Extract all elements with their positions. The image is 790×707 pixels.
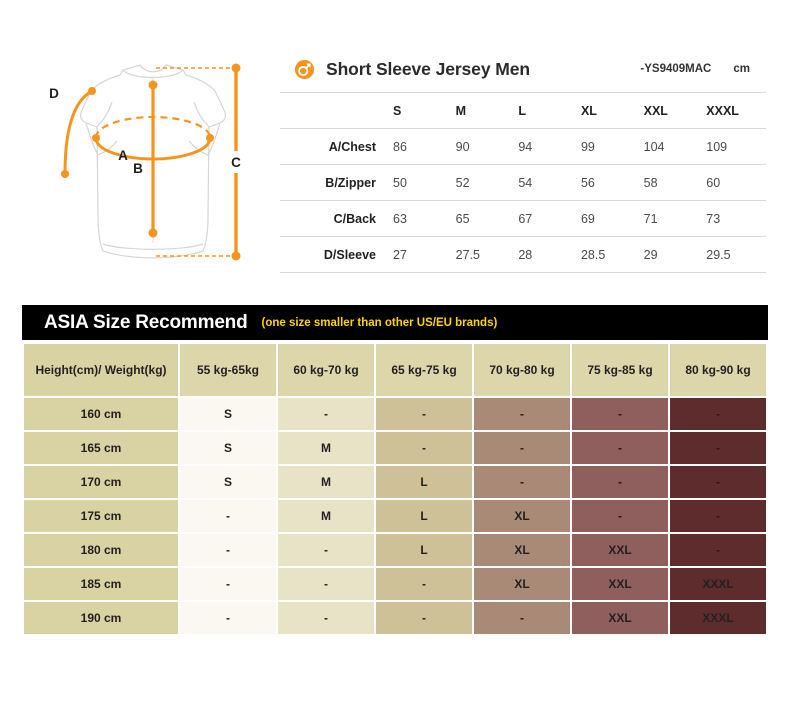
measurement-label: C/Back xyxy=(280,201,390,237)
measurement-label: D/Sleeve xyxy=(280,237,390,273)
dash-marker: - xyxy=(716,407,720,421)
asia-cell-empty: - xyxy=(376,568,472,600)
asia-cell-size: M xyxy=(278,500,374,532)
dash-marker: - xyxy=(716,543,720,557)
label-d: D xyxy=(49,86,59,101)
size-header-xxxl: XXXL xyxy=(703,93,766,129)
asia-cell-empty: - xyxy=(376,602,472,634)
asia-banner-note: (one size smaller than other US/EU brand… xyxy=(262,317,498,329)
asia-cell-empty: - xyxy=(180,534,276,566)
asia-row: 170 cmSML--- xyxy=(24,466,766,498)
measurement-value: 52 xyxy=(453,165,516,201)
asia-cell-size: XXXL xyxy=(670,568,766,600)
measurement-value: 94 xyxy=(515,129,578,165)
asia-weight-header-1: 60 kg-70 kg xyxy=(278,344,374,396)
dash-marker: - xyxy=(324,543,328,557)
asia-row: 165 cmSM---- xyxy=(24,432,766,464)
measurement-value: 109 xyxy=(703,129,766,165)
asia-cell-size: XXL xyxy=(572,602,668,634)
asia-cell-empty: - xyxy=(670,534,766,566)
product-code: -YS9409MAC xyxy=(640,63,711,75)
dash-marker: - xyxy=(422,611,426,625)
asia-weight-header-3: 70 kg-80 kg xyxy=(474,344,570,396)
asia-cell-empty: - xyxy=(474,602,570,634)
asia-cell-size: L xyxy=(376,534,472,566)
label-b: B xyxy=(133,161,143,176)
measurement-value: 28 xyxy=(515,237,578,273)
measurement-value: 90 xyxy=(453,129,516,165)
asia-size-recommend-section: ASIA Size Recommend (one size smaller th… xyxy=(22,305,768,636)
table-row: C/Back 63 65 67 69 71 73 xyxy=(280,201,766,237)
asia-cell-empty: - xyxy=(180,568,276,600)
measurement-value: 86 xyxy=(390,129,453,165)
page-title: Short Sleeve Jersey Men xyxy=(326,59,530,80)
measure-d-sleeve xyxy=(65,91,92,174)
product-spec-section: C B A xyxy=(0,0,790,290)
asia-cell-empty: - xyxy=(572,432,668,464)
asia-row: 185 cm---XLXXLXXXL xyxy=(24,568,766,600)
dash-marker: - xyxy=(520,441,524,455)
asia-cell-size: XXL xyxy=(572,568,668,600)
dash-marker: - xyxy=(618,509,622,523)
table-header-row: S M L XL XXL XXXL xyxy=(280,93,766,129)
asia-weight-header-5: 80 kg-90 kg xyxy=(670,344,766,396)
dash-marker: - xyxy=(618,407,622,421)
asia-cell-size: L xyxy=(376,466,472,498)
spec-panel: Short Sleeve Jersey Men -YS9409MAC cm S … xyxy=(280,52,766,273)
dash-marker: - xyxy=(618,475,622,489)
dash-marker: - xyxy=(520,407,524,421)
asia-cell-empty: - xyxy=(572,500,668,532)
measurement-value: 67 xyxy=(515,201,578,237)
asia-cell-size: XL xyxy=(474,500,570,532)
asia-cell-size: XL xyxy=(474,534,570,566)
asia-cell-empty: - xyxy=(278,398,374,430)
measurement-value: 28.5 xyxy=(578,237,641,273)
label-a: A xyxy=(118,148,128,163)
size-header-xl: XL xyxy=(578,93,641,129)
asia-weight-header-4: 75 kg-85 kg xyxy=(572,344,668,396)
dash-marker: - xyxy=(716,475,720,489)
dash-marker: - xyxy=(226,577,230,591)
dash-marker: - xyxy=(226,543,230,557)
asia-corner-label: Height(cm)/ Weight(kg) xyxy=(24,344,178,396)
asia-cell-empty: - xyxy=(474,466,570,498)
measurement-value: 27 xyxy=(390,237,453,273)
asia-cell-empty: - xyxy=(572,466,668,498)
size-header-xxl: XXL xyxy=(641,93,704,129)
measurement-value: 65 xyxy=(453,201,516,237)
measurement-value: 73 xyxy=(703,201,766,237)
asia-weight-header-0: 55 kg-65kg xyxy=(180,344,276,396)
label-c: C xyxy=(231,155,241,170)
measurement-value: 50 xyxy=(390,165,453,201)
asia-cell-empty: - xyxy=(670,466,766,498)
measurement-value: 58 xyxy=(641,165,704,201)
measurement-value: 71 xyxy=(641,201,704,237)
spec-title-row: Short Sleeve Jersey Men -YS9409MAC cm xyxy=(280,52,766,86)
dash-marker: - xyxy=(226,611,230,625)
size-header-s: S xyxy=(390,93,453,129)
asia-cell-size: S xyxy=(180,398,276,430)
asia-cell-size: M xyxy=(278,466,374,498)
asia-cell-size: S xyxy=(180,432,276,464)
dash-marker: - xyxy=(520,611,524,625)
measurement-value: 60 xyxy=(703,165,766,201)
measurement-value: 27.5 xyxy=(453,237,516,273)
measurement-label: A/Chest xyxy=(280,129,390,165)
male-gender-icon xyxy=(294,59,315,80)
jersey-measurement-diagram: C B A xyxy=(28,48,278,280)
asia-header-row: Height(cm)/ Weight(kg)55 kg-65kg60 kg-70… xyxy=(24,344,766,396)
asia-height-label: 175 cm xyxy=(24,500,178,532)
asia-cell-size: XL xyxy=(474,568,570,600)
asia-height-label: 185 cm xyxy=(24,568,178,600)
asia-height-label: 180 cm xyxy=(24,534,178,566)
dash-marker: - xyxy=(324,577,328,591)
dash-marker: - xyxy=(226,509,230,523)
size-header-m: M xyxy=(453,93,516,129)
asia-cell-empty: - xyxy=(670,500,766,532)
asia-height-label: 160 cm xyxy=(24,398,178,430)
asia-cell-empty: - xyxy=(572,398,668,430)
measurement-value: 99 xyxy=(578,129,641,165)
asia-row: 190 cm----XXLXXXL xyxy=(24,602,766,634)
asia-height-label: 165 cm xyxy=(24,432,178,464)
table-row: D/Sleeve 27 27.5 28 28.5 29 29.5 xyxy=(280,237,766,273)
measurement-value: 56 xyxy=(578,165,641,201)
asia-banner-title: ASIA Size Recommend xyxy=(44,312,248,334)
asia-cell-empty: - xyxy=(376,432,472,464)
asia-cell-size: L xyxy=(376,500,472,532)
measurement-label: B/Zipper xyxy=(280,165,390,201)
measurement-value: 63 xyxy=(390,201,453,237)
asia-cell-size: M xyxy=(278,432,374,464)
measurement-table: S M L XL XXL XXXL A/Chest 86 90 94 99 10… xyxy=(280,92,766,273)
asia-row: 160 cmS----- xyxy=(24,398,766,430)
dash-marker: - xyxy=(716,509,720,523)
measurement-corner-cell xyxy=(280,93,390,129)
asia-cell-empty: - xyxy=(180,602,276,634)
asia-cell-size: XXXL xyxy=(670,602,766,634)
asia-banner: ASIA Size Recommend (one size smaller th… xyxy=(22,305,768,340)
asia-row: 175 cm-MLXL-- xyxy=(24,500,766,532)
measurement-value: 69 xyxy=(578,201,641,237)
asia-cell-empty: - xyxy=(278,534,374,566)
size-header-l: L xyxy=(515,93,578,129)
asia-cell-empty: - xyxy=(474,398,570,430)
asia-cell-empty: - xyxy=(474,432,570,464)
dash-marker: - xyxy=(422,407,426,421)
measurement-value: 29.5 xyxy=(703,237,766,273)
dash-marker: - xyxy=(324,407,328,421)
dash-marker: - xyxy=(324,611,328,625)
measurement-value: 54 xyxy=(515,165,578,201)
asia-cell-empty: - xyxy=(670,432,766,464)
dash-marker: - xyxy=(422,441,426,455)
dash-marker: - xyxy=(422,577,426,591)
measurement-value: 29 xyxy=(641,237,704,273)
dash-marker: - xyxy=(618,441,622,455)
measurement-value: 104 xyxy=(641,129,704,165)
asia-row: 180 cm--LXLXXL- xyxy=(24,534,766,566)
asia-size-table: Height(cm)/ Weight(kg)55 kg-65kg60 kg-70… xyxy=(22,342,768,636)
dash-marker: - xyxy=(520,475,524,489)
asia-cell-empty: - xyxy=(670,398,766,430)
asia-cell-empty: - xyxy=(278,602,374,634)
dash-marker: - xyxy=(716,441,720,455)
asia-height-label: 170 cm xyxy=(24,466,178,498)
asia-cell-empty: - xyxy=(180,500,276,532)
unit-label: cm xyxy=(733,63,750,75)
table-row: B/Zipper 50 52 54 56 58 60 xyxy=(280,165,766,201)
table-row: A/Chest 86 90 94 99 104 109 xyxy=(280,129,766,165)
asia-cell-empty: - xyxy=(376,398,472,430)
asia-height-label: 190 cm xyxy=(24,602,178,634)
asia-cell-empty: - xyxy=(278,568,374,600)
asia-cell-size: S xyxy=(180,466,276,498)
asia-cell-size: XXL xyxy=(572,534,668,566)
asia-weight-header-2: 65 kg-75 kg xyxy=(376,344,472,396)
